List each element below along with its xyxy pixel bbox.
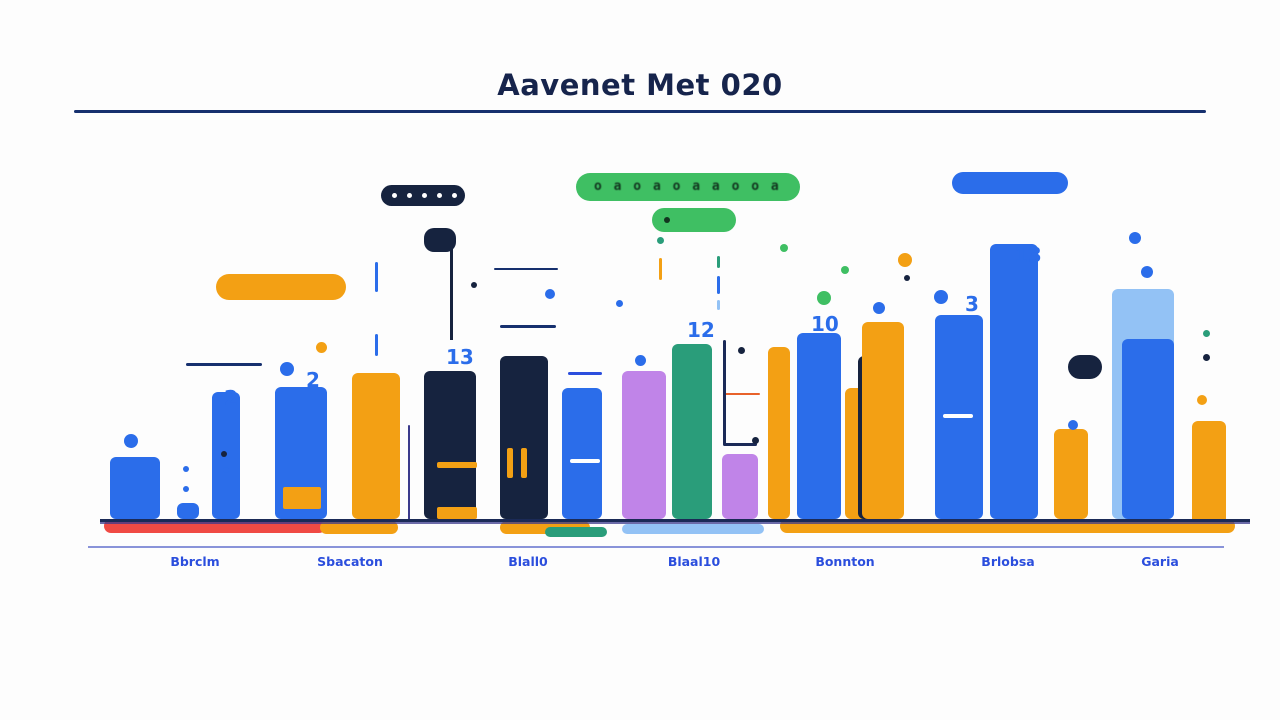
scatter-dot (1068, 420, 1078, 430)
scatter-dot (183, 466, 189, 472)
scatter-dot (183, 486, 189, 492)
bar (562, 388, 602, 519)
pill-dot (392, 193, 397, 198)
pill-dot (664, 217, 670, 223)
x-tick-label: Garia (1141, 554, 1179, 569)
bar (1122, 339, 1174, 519)
pill-dot (437, 193, 442, 198)
x-tick-label: Sbacaton (317, 554, 383, 569)
bar (990, 244, 1038, 519)
scatter-dot (657, 237, 664, 244)
x-tick-label: Blaal10 (668, 554, 720, 569)
bar (177, 503, 199, 519)
bar (110, 457, 160, 519)
navy-rule-4 (494, 268, 558, 270)
vert-blue-3 (717, 276, 720, 294)
scatter-dot (1203, 354, 1210, 361)
scatter-dot (898, 253, 912, 267)
vert-blue-4 (717, 300, 720, 310)
scatter-dot (904, 275, 910, 281)
green-glyph-pill: o a o a o a a o o a (576, 173, 800, 201)
x-axis-line-shadow (100, 522, 1250, 524)
bar-value-label: 12 (687, 318, 715, 342)
scatter-dot (1141, 266, 1153, 278)
navy-bracket-v (723, 340, 726, 445)
white-mark-1 (570, 459, 600, 463)
bar (722, 454, 758, 519)
blue-rule-3 (568, 372, 602, 375)
green-underbar (545, 527, 607, 537)
scatter-dot (471, 282, 477, 288)
vert-blue-2 (375, 334, 378, 356)
lightblue-underbar (622, 524, 764, 534)
chart-canvas: Aavenet Met 020 o a o a o a a o o a 2213… (0, 0, 1280, 720)
pill-dot (452, 193, 457, 198)
scatter-dot (221, 451, 227, 457)
orange-inbar-5 (283, 487, 321, 509)
x-tick-label: Brlobsa (981, 554, 1034, 569)
bar (500, 356, 548, 519)
bar (1192, 421, 1226, 519)
scatter-dot (124, 434, 138, 448)
x-tick-label: Blall0 (508, 554, 548, 569)
navy-bracket-h (723, 443, 757, 446)
bar-value-label: 2 (306, 368, 320, 392)
orange-rule-5 (724, 393, 760, 395)
x-tick-label: Bonnton (815, 554, 874, 569)
orange-pill (216, 274, 346, 300)
bar-value-label: 3 (965, 292, 979, 316)
bar-value-label: 2 (224, 386, 238, 410)
orange-inbar-1 (437, 462, 477, 468)
bar (797, 333, 841, 519)
bar (862, 322, 904, 519)
scatter-dot (738, 347, 745, 354)
orange-inbar-3 (507, 448, 513, 478)
bar (424, 371, 476, 519)
blue-rule-1 (186, 363, 262, 366)
bar (622, 371, 666, 519)
scatter-dot (1197, 395, 1207, 405)
scatter-dot (817, 291, 831, 305)
scatter-dot (873, 302, 885, 314)
vert-blue-1 (375, 262, 378, 292)
scatter-dot (280, 362, 294, 376)
x-tick-label: Bbrclm (170, 554, 219, 569)
bar (352, 373, 400, 519)
scatter-dot (934, 290, 948, 304)
bar-value-label: 13 (1014, 243, 1042, 267)
scatter-dot (616, 300, 623, 307)
scatter-dot (316, 342, 327, 353)
navy-dotted-pill (381, 185, 465, 206)
pill-dot (422, 193, 427, 198)
green-small-pill (652, 208, 736, 232)
scatter-dot (780, 244, 788, 252)
plot-area: o a o a o a a o o a 22131210313 BbrclmSb… (0, 0, 1280, 720)
vert-green-1 (717, 256, 720, 268)
scatter-dot (635, 355, 646, 366)
blue-rule-2 (500, 325, 556, 328)
orange-inbar-2 (437, 507, 477, 519)
x-axis-lower-rule (88, 546, 1224, 548)
scatter-dot (223, 467, 229, 473)
navy-blob (1068, 355, 1102, 379)
bar-value-label: 13 (446, 345, 474, 369)
scatter-dot (752, 437, 759, 444)
vert-navy-1 (408, 425, 410, 520)
white-mark-2 (943, 414, 973, 418)
blue-pill (952, 172, 1068, 194)
navy-hook-tail (450, 240, 453, 340)
scatter-dot (545, 289, 555, 299)
vert-orange-1 (659, 258, 662, 280)
pill-dot (407, 193, 412, 198)
bar (768, 347, 790, 519)
bar (672, 344, 712, 519)
pill-glyph-text: o a o a o a a o o a (594, 179, 781, 194)
bar-value-label: 10 (811, 312, 839, 336)
scatter-dot (1203, 330, 1210, 337)
scatter-dot (841, 266, 849, 274)
orange-inbar-4 (521, 448, 527, 478)
scatter-dot (1129, 232, 1141, 244)
bar (1054, 429, 1088, 519)
